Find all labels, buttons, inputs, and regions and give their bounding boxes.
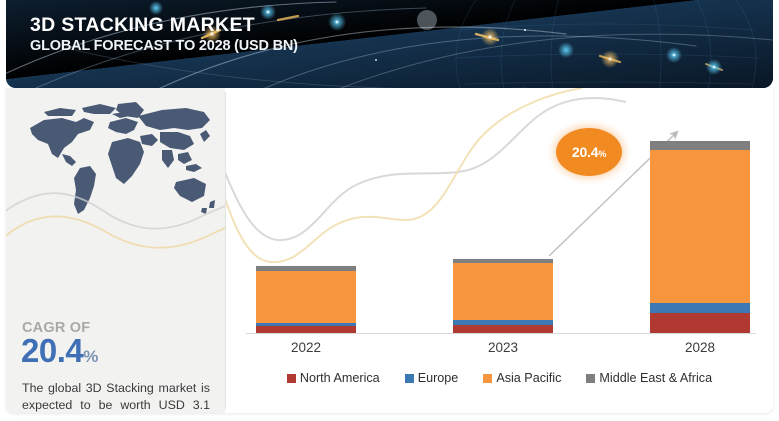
infographic-page: 3D STACKING MARKET GLOBAL FORECAST TO 20…	[0, 0, 779, 421]
summary-panel: CAGR OF 20.4% The global 3D Stacking mar…	[6, 88, 225, 413]
legend-swatch-middle-east-africa	[586, 374, 595, 383]
segment-north-america-2023	[453, 325, 553, 333]
segment-asia-pacific-2023	[453, 263, 553, 320]
legend-label-middle-east-africa: Middle East & Africa	[599, 371, 712, 385]
segment-europe-2028	[650, 303, 750, 313]
bar-2022	[256, 266, 356, 333]
header-banner: 3D STACKING MARKET GLOBAL FORECAST TO 20…	[6, 0, 773, 88]
legend-swatch-europe	[405, 374, 414, 383]
x-axis-line	[246, 333, 756, 334]
cagr-badge-text: 20.4%	[572, 144, 606, 160]
segment-asia-pacific-2028	[650, 150, 750, 303]
cagr-badge-value: 20.4	[572, 144, 598, 160]
segment-north-america-2022	[256, 326, 356, 333]
cagr-number: 20.4	[21, 332, 83, 369]
category-label-2028: 2028	[640, 340, 760, 355]
legend-label-north-america: North America	[300, 371, 380, 385]
cagr-value: 20.4%	[21, 334, 98, 374]
chart-legend: North America Europe Asia Pacific Middle…	[226, 371, 773, 385]
legend-item-asia-pacific[interactable]: Asia Pacific	[483, 371, 561, 385]
cagr-percent-sign: %	[83, 347, 98, 366]
legend-label-europe: Europe	[418, 371, 459, 385]
content-card: CAGR OF 20.4% The global 3D Stacking mar…	[6, 88, 773, 413]
header-text-block: 3D STACKING MARKET GLOBAL FORECAST TO 20…	[30, 14, 298, 56]
decorative-waves-left	[6, 184, 225, 270]
cagr-badge-unit: %	[598, 149, 606, 159]
legend-label-asia-pacific: Asia Pacific	[496, 371, 561, 385]
summary-description: The global 3D Stacking market is expecte…	[22, 380, 210, 413]
legend-swatch-north-america	[287, 374, 296, 383]
legend-item-middle-east-africa[interactable]: Middle East & Africa	[586, 371, 712, 385]
segment-asia-pacific-2022	[256, 271, 356, 323]
segment-north-america-2028	[650, 313, 750, 333]
stacked-bar-chart: 1.1 2022 1.2 2023 3.1	[226, 88, 773, 413]
bar-2023	[453, 259, 553, 333]
bar-2028	[650, 141, 750, 333]
legend-swatch-asia-pacific	[483, 374, 492, 383]
segment-middle-east-africa-2028	[650, 141, 750, 150]
category-label-2022: 2022	[246, 340, 366, 355]
plot-area: 1.1 2022 1.2 2023 3.1	[226, 88, 773, 413]
cagr-badge: 20.4%	[556, 128, 622, 176]
page-subtitle: GLOBAL FORECAST TO 2028 (USD BN)	[30, 37, 298, 56]
category-label-2023: 2023	[443, 340, 563, 355]
page-title: 3D STACKING MARKET	[30, 14, 298, 36]
legend-item-north-america[interactable]: North America	[287, 371, 380, 385]
legend-item-europe[interactable]: Europe	[405, 371, 459, 385]
